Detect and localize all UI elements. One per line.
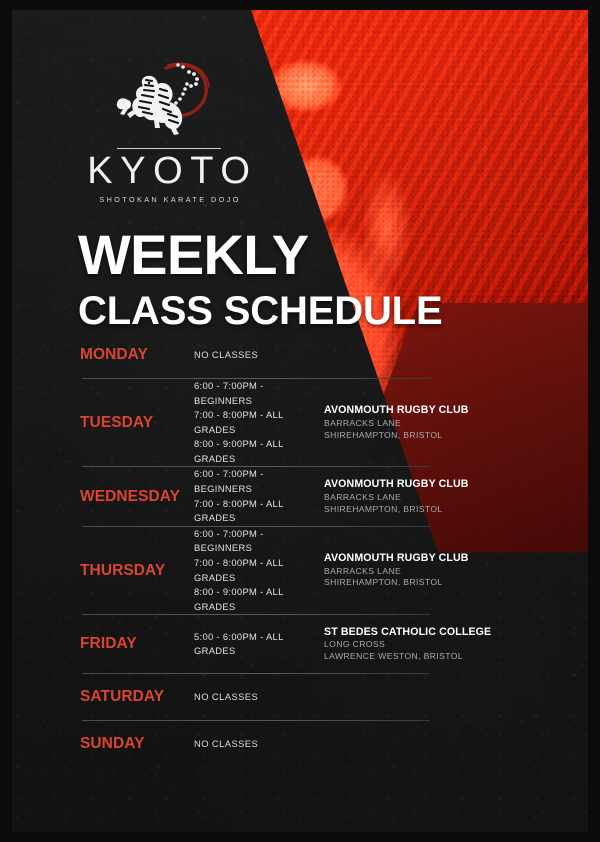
class-times: 5:00 - 6:00PM - ALL GRADES	[194, 630, 324, 659]
karate-classes-arc-badge	[222, 206, 324, 308]
class-time: 6:00 - 7:00PM - BEGINNERS	[194, 379, 324, 408]
venue-block: AVONMOUTH RUGBY CLUB BARRACKS LANE SHIRE…	[324, 478, 588, 515]
class-time: 7:00 - 8:00PM - ALL GRADES	[194, 497, 324, 526]
schedule-row-tuesday: TUESDAY 6:00 - 7:00PM - BEGINNERS 7:00 -…	[12, 379, 588, 466]
day-label: WEDNESDAY	[80, 488, 194, 506]
venue-block: AVONMOUTH RUGBY CLUB BARRACKS LANE SHIRE…	[324, 404, 588, 441]
venue-block: AVONMOUTH RUGBY CLUB BARRACKS LANE SHIRE…	[324, 552, 588, 589]
schedule-row-monday: MONDAY NO CLASSES	[12, 332, 588, 378]
class-time: 7:00 - 8:00PM - ALL GRADES	[194, 556, 324, 585]
venue-name: AVONMOUTH RUGBY CLUB	[324, 478, 588, 492]
venue-name: AVONMOUTH RUGBY CLUB	[324, 404, 588, 418]
day-label: MONDAY	[80, 346, 194, 364]
venue-address-line: SHIREHAMPTON, BRISTOL	[324, 504, 588, 516]
no-classes-label: NO CLASSES	[194, 691, 258, 702]
venue-address-line: SHIREHAMPTON, BRISTOL	[324, 430, 588, 442]
venue-block: ST BEDES CATHOLIC COLLEGE LONG CROSS LAW…	[324, 626, 588, 663]
class-time: 7:00 - 8:00PM - ALL GRADES	[194, 408, 324, 437]
day-label: THURSDAY	[80, 562, 194, 580]
day-label: TUESDAY	[80, 414, 194, 432]
venue-address-line: LONG CROSS	[324, 639, 588, 651]
class-time: 5:00 - 6:00PM - ALL GRADES	[194, 630, 324, 659]
schedule-row-thursday: THURSDAY 6:00 - 7:00PM - BEGINNERS 7:00 …	[12, 527, 588, 614]
venue-address-line: BARRACKS LANE	[324, 566, 588, 578]
venue-address-line: SHIREHAMPTON, BRISTOL	[324, 577, 588, 589]
venue-name: ST BEDES CATHOLIC COLLEGE	[324, 626, 588, 640]
no-classes-label: NO CLASSES	[194, 349, 258, 360]
venue-address-line: LAWRENCE WESTON, BRISTOL	[324, 651, 588, 663]
schedule-row-friday: FRIDAY 5:00 - 6:00PM - ALL GRADES ST BED…	[12, 615, 588, 673]
poster-inner-panel: KYOTO SHOTOKAN KARATE DOJO WEEKLY CLASS …	[12, 10, 588, 832]
brand-logo: KYOTO SHOTOKAN KARATE DOJO	[74, 56, 264, 204]
schedule-row-wednesday: WEDNESDAY 6:00 - 7:00PM - BEGINNERS 7:00…	[12, 467, 588, 525]
no-classes-label: NO CLASSES	[194, 738, 258, 749]
schedule-list: MONDAY NO CLASSES TUESDAY 6:00 - 7:00PM …	[12, 332, 588, 767]
logo-divider-rule	[117, 148, 221, 149]
brand-name: KYOTO	[74, 152, 264, 192]
day-label: SATURDAY	[80, 688, 194, 706]
poster: KYOTO SHOTOKAN KARATE DOJO WEEKLY CLASS …	[0, 0, 600, 842]
venue-address-line: BARRACKS LANE	[324, 492, 588, 504]
class-time: 6:00 - 7:00PM - BEGINNERS	[194, 467, 324, 496]
schedule-row-sunday: SUNDAY NO CLASSES	[12, 721, 588, 767]
class-times: 6:00 - 7:00PM - BEGINNERS 7:00 - 8:00PM …	[194, 379, 324, 466]
class-time: 8:00 - 9:00PM - ALL GRADES	[194, 585, 324, 614]
class-time: 8:00 - 9:00PM - ALL GRADES	[194, 437, 324, 466]
day-label: SUNDAY	[80, 735, 194, 753]
day-label: FRIDAY	[80, 635, 194, 653]
schedule-row-saturday: SATURDAY NO CLASSES	[12, 674, 588, 720]
class-time: 6:00 - 7:00PM - BEGINNERS	[194, 527, 324, 556]
venue-address-line: BARRACKS LANE	[324, 418, 588, 430]
venue-name: AVONMOUTH RUGBY CLUB	[324, 552, 588, 566]
tiger-logo-icon	[110, 56, 228, 144]
brand-tagline: SHOTOKAN KARATE DOJO	[74, 195, 264, 204]
class-times: 6:00 - 7:00PM - BEGINNERS 7:00 - 8:00PM …	[194, 467, 324, 525]
class-times: 6:00 - 7:00PM - BEGINNERS 7:00 - 8:00PM …	[194, 527, 324, 614]
